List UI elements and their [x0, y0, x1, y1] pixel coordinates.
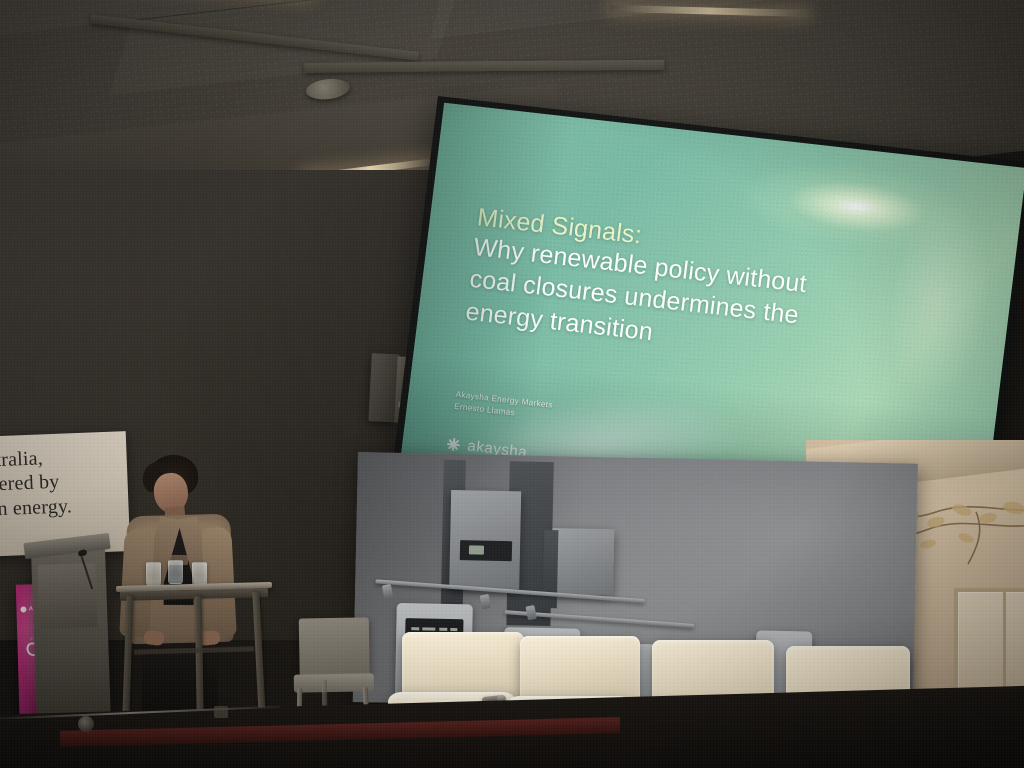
backdrop-inverter-cabinet: [551, 528, 614, 595]
water-glass: [146, 562, 161, 586]
slide-text-block: Mixed Signals: Why renewable policy with…: [464, 204, 992, 385]
cable-drum: [78, 716, 94, 732]
slide-credit: Akaysha Energy Markets Ernesto Llamas: [453, 389, 553, 423]
water-glass: [168, 560, 183, 584]
backdrop-inverter-display-readout: [469, 546, 484, 555]
all-energy-logo-icon: [21, 606, 27, 612]
backdrop-inverter-display: [460, 540, 512, 561]
conference-photo-scene: Mixed Signals: Why renewable policy with…: [0, 0, 1024, 768]
sunburst-icon: [446, 436, 462, 451]
wall-banner-text: Australia, powered by clean energy.: [0, 443, 130, 523]
lectern: [31, 545, 111, 727]
wall-banner-line-3: clean energy.: [0, 492, 130, 523]
lectern-panel: [38, 563, 98, 629]
floor-outlet: [214, 706, 228, 718]
water-glass: [192, 562, 207, 586]
speaker-hand-left: [143, 630, 164, 646]
side-chair-back: [299, 617, 370, 676]
